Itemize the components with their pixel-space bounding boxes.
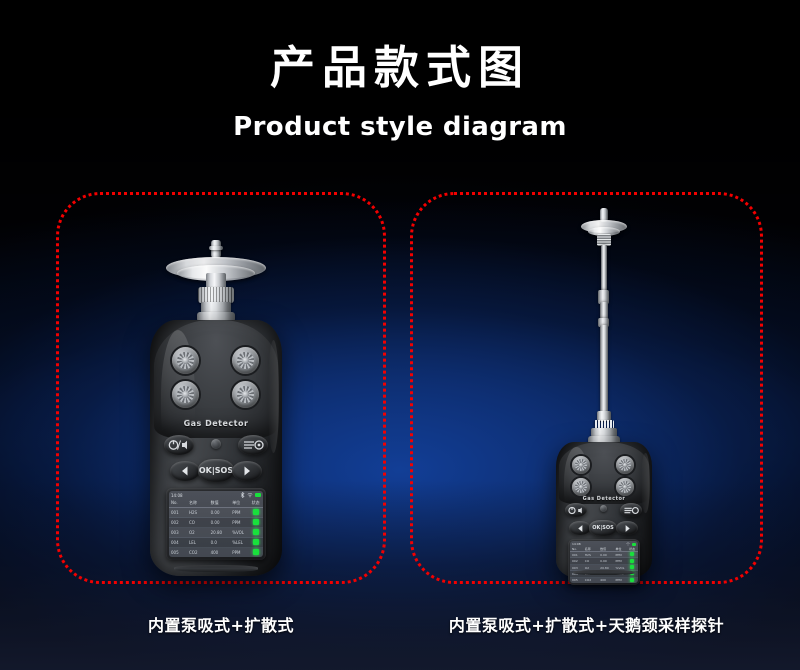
device-bottom-grip bbox=[573, 570, 634, 575]
sensor-port-top-right bbox=[616, 456, 634, 474]
lcd-clock: 14:08 bbox=[171, 493, 183, 498]
row-unit: %VOL bbox=[232, 530, 250, 535]
sensor-port-bottom-left bbox=[172, 381, 199, 408]
row-name: H2S bbox=[189, 510, 211, 515]
row-name: CO bbox=[585, 559, 600, 563]
page-header: 产品款式图 Product style diagram bbox=[0, 42, 800, 142]
page-title-en: Product style diagram bbox=[0, 112, 800, 142]
gooseneck-probe-assembly bbox=[556, 208, 652, 454]
power-mute-icon bbox=[568, 506, 584, 515]
row-status-badge bbox=[250, 529, 261, 536]
row-status-badge bbox=[250, 539, 261, 546]
row-value: 20.80 bbox=[600, 566, 615, 570]
alarm-led-icon bbox=[211, 439, 221, 449]
battery-icon bbox=[632, 543, 636, 546]
ok-sos-label: OK|SOS bbox=[592, 525, 613, 531]
ok-sos-button[interactable]: OK|SOS bbox=[589, 520, 617, 536]
device-housing: Gas Detector OK|SOS bbox=[556, 442, 652, 578]
row-unit: PPM bbox=[232, 510, 250, 515]
lcd-screen[interactable]: 14:08 No. 名称 数值 单位 状态 bbox=[570, 541, 638, 583]
lcd-clock: 14:08 bbox=[572, 542, 581, 546]
lcd-table-body: 001 H2S 0.00 PPM 002 CO 0.00 PPM 0 bbox=[169, 508, 263, 557]
row-no: 004 bbox=[171, 540, 189, 545]
left-arrow-button[interactable] bbox=[170, 461, 200, 481]
row-name: O2 bbox=[585, 566, 600, 570]
lcd-status-bar: 14:08 bbox=[169, 491, 263, 499]
lcd-col-value: 数值 bbox=[211, 500, 233, 506]
right-arrow-button[interactable] bbox=[616, 521, 638, 535]
left-arrow-button[interactable] bbox=[569, 521, 591, 535]
ok-sos-label: OK|SOS bbox=[199, 466, 233, 475]
wifi-icon bbox=[247, 492, 253, 498]
lcd-frame: 14:08 No. 名称 数值 单位 状态 bbox=[568, 539, 640, 585]
row-no: 005 bbox=[572, 578, 585, 582]
row-no: 001 bbox=[572, 553, 585, 557]
device-pump-diffusion[interactable]: Gas Detector OK|SOS bbox=[150, 240, 282, 576]
probe-pole-section-1 bbox=[601, 245, 607, 293]
row-status-badge bbox=[628, 552, 636, 557]
row-value: 0.00 bbox=[600, 559, 615, 563]
brand-label: Gas Detector bbox=[556, 496, 652, 502]
row-name: CO2 bbox=[189, 550, 211, 555]
alarm-led-icon bbox=[600, 505, 607, 512]
nozzle-knurl-lines bbox=[198, 287, 234, 303]
row-no: 003 bbox=[572, 566, 585, 570]
menu-light-button[interactable] bbox=[620, 503, 642, 517]
lcd-col-state: 状态 bbox=[628, 547, 636, 551]
row-unit: PPM bbox=[616, 578, 629, 582]
lcd-status-icons bbox=[240, 492, 261, 498]
lcd-screen[interactable]: 14:08 No. 名称 bbox=[169, 491, 263, 557]
menu-light-icon bbox=[242, 439, 264, 451]
device-bottom-grip bbox=[174, 565, 258, 572]
sensor-port-bottom-right bbox=[232, 381, 259, 408]
row-status-badge bbox=[250, 519, 261, 526]
row-unit: PPM bbox=[616, 559, 629, 563]
sensor-port-top-right bbox=[232, 347, 259, 374]
power-mute-button[interactable] bbox=[565, 503, 587, 517]
page-title-cn: 产品款式图 bbox=[0, 42, 800, 94]
battery-icon bbox=[255, 493, 261, 497]
row-value: 0.0 bbox=[211, 540, 233, 545]
table-row: 005 CO2 400 PPM bbox=[169, 548, 263, 557]
probe-pole-section-3 bbox=[600, 325, 608, 413]
lcd-col-value: 数值 bbox=[600, 547, 615, 551]
right-arrow-icon bbox=[623, 524, 632, 533]
bluetooth-icon bbox=[240, 492, 245, 498]
lcd-status-icons bbox=[626, 542, 636, 546]
table-row: 005 CO2 400 PPM bbox=[570, 578, 638, 583]
lcd-col-state: 状态 bbox=[250, 500, 261, 506]
sensor-port-top-left bbox=[172, 347, 199, 374]
device-housing: Gas Detector OK|SOS bbox=[150, 320, 282, 576]
row-no: 003 bbox=[171, 530, 189, 535]
table-row: 004 LEL 0.0 %LEL bbox=[169, 538, 263, 548]
right-arrow-icon bbox=[241, 465, 253, 477]
lcd-table-body: 001 H2S 0.00 PPM 002 CO 0.00 PPM 0 bbox=[570, 552, 638, 583]
sensor-port-bottom-right bbox=[616, 478, 634, 496]
row-unit: %VOL bbox=[616, 566, 629, 570]
row-name: CO bbox=[189, 520, 211, 525]
lcd-col-no: No. bbox=[171, 500, 189, 506]
row-unit: PPM bbox=[616, 553, 629, 557]
caption-left: 内置泵吸式+扩散式 bbox=[56, 612, 386, 636]
row-no: 002 bbox=[572, 559, 585, 563]
nozzle-barb-ring bbox=[209, 246, 223, 250]
lcd-frame: 14:08 No. 名称 bbox=[166, 488, 266, 560]
left-arrow-icon bbox=[179, 465, 191, 477]
lcd-col-name: 名称 bbox=[585, 547, 600, 551]
wifi-icon bbox=[626, 542, 630, 546]
table-row: 003 O2 20.80 %VOL bbox=[169, 528, 263, 538]
caption-right: 内置泵吸式+扩散式+天鹅颈采样探针 bbox=[410, 612, 763, 636]
sensor-port-bottom-left bbox=[572, 478, 590, 496]
sensor-port-top-left bbox=[572, 456, 590, 474]
row-no: 005 bbox=[171, 550, 189, 555]
row-name: CO2 bbox=[585, 578, 600, 582]
lcd-table-header: No. 名称 数值 单位 状态 bbox=[169, 499, 263, 508]
row-status-badge bbox=[628, 565, 636, 570]
row-unit: PPM bbox=[232, 520, 250, 525]
row-status-badge bbox=[250, 509, 261, 516]
menu-light-icon bbox=[623, 506, 639, 515]
lcd-col-name: 名称 bbox=[189, 500, 211, 506]
row-value: 0.00 bbox=[600, 553, 615, 557]
row-no: 001 bbox=[171, 510, 189, 515]
row-status-badge bbox=[628, 578, 636, 583]
row-name: O2 bbox=[189, 530, 211, 535]
row-status-badge bbox=[628, 559, 636, 564]
left-arrow-icon bbox=[576, 524, 585, 533]
device-sensor-head bbox=[559, 442, 649, 504]
row-value: 0.00 bbox=[211, 520, 233, 525]
row-value: 400 bbox=[600, 578, 615, 582]
lcd-col-no: No. bbox=[572, 547, 585, 551]
lcd-col-unit: 单位 bbox=[232, 500, 250, 506]
row-name: LEL bbox=[189, 540, 211, 545]
row-value: 20.80 bbox=[211, 530, 233, 535]
lcd-col-unit: 单位 bbox=[616, 547, 629, 551]
row-status-badge bbox=[250, 549, 261, 556]
power-mute-icon bbox=[168, 439, 190, 451]
nozzle-assembly bbox=[150, 240, 282, 332]
right-arrow-button[interactable] bbox=[232, 461, 262, 481]
row-name: H2S bbox=[585, 553, 600, 557]
row-unit: PPM bbox=[232, 550, 250, 555]
table-row: 002 CO 0.00 PPM bbox=[169, 518, 263, 528]
brand-label: Gas Detector bbox=[150, 419, 282, 428]
row-unit: %LEL bbox=[232, 540, 250, 545]
row-value: 400 bbox=[211, 550, 233, 555]
menu-light-button[interactable] bbox=[238, 435, 268, 455]
row-value: 0.00 bbox=[211, 510, 233, 515]
table-row: 001 H2S 0.00 PPM bbox=[169, 508, 263, 518]
device-pump-diffusion-gooseneck[interactable]: Gas Detector OK|SOS bbox=[556, 208, 652, 578]
ok-sos-button[interactable]: OK|SOS bbox=[198, 459, 234, 482]
power-mute-button[interactable] bbox=[164, 435, 194, 455]
row-no: 002 bbox=[171, 520, 189, 525]
